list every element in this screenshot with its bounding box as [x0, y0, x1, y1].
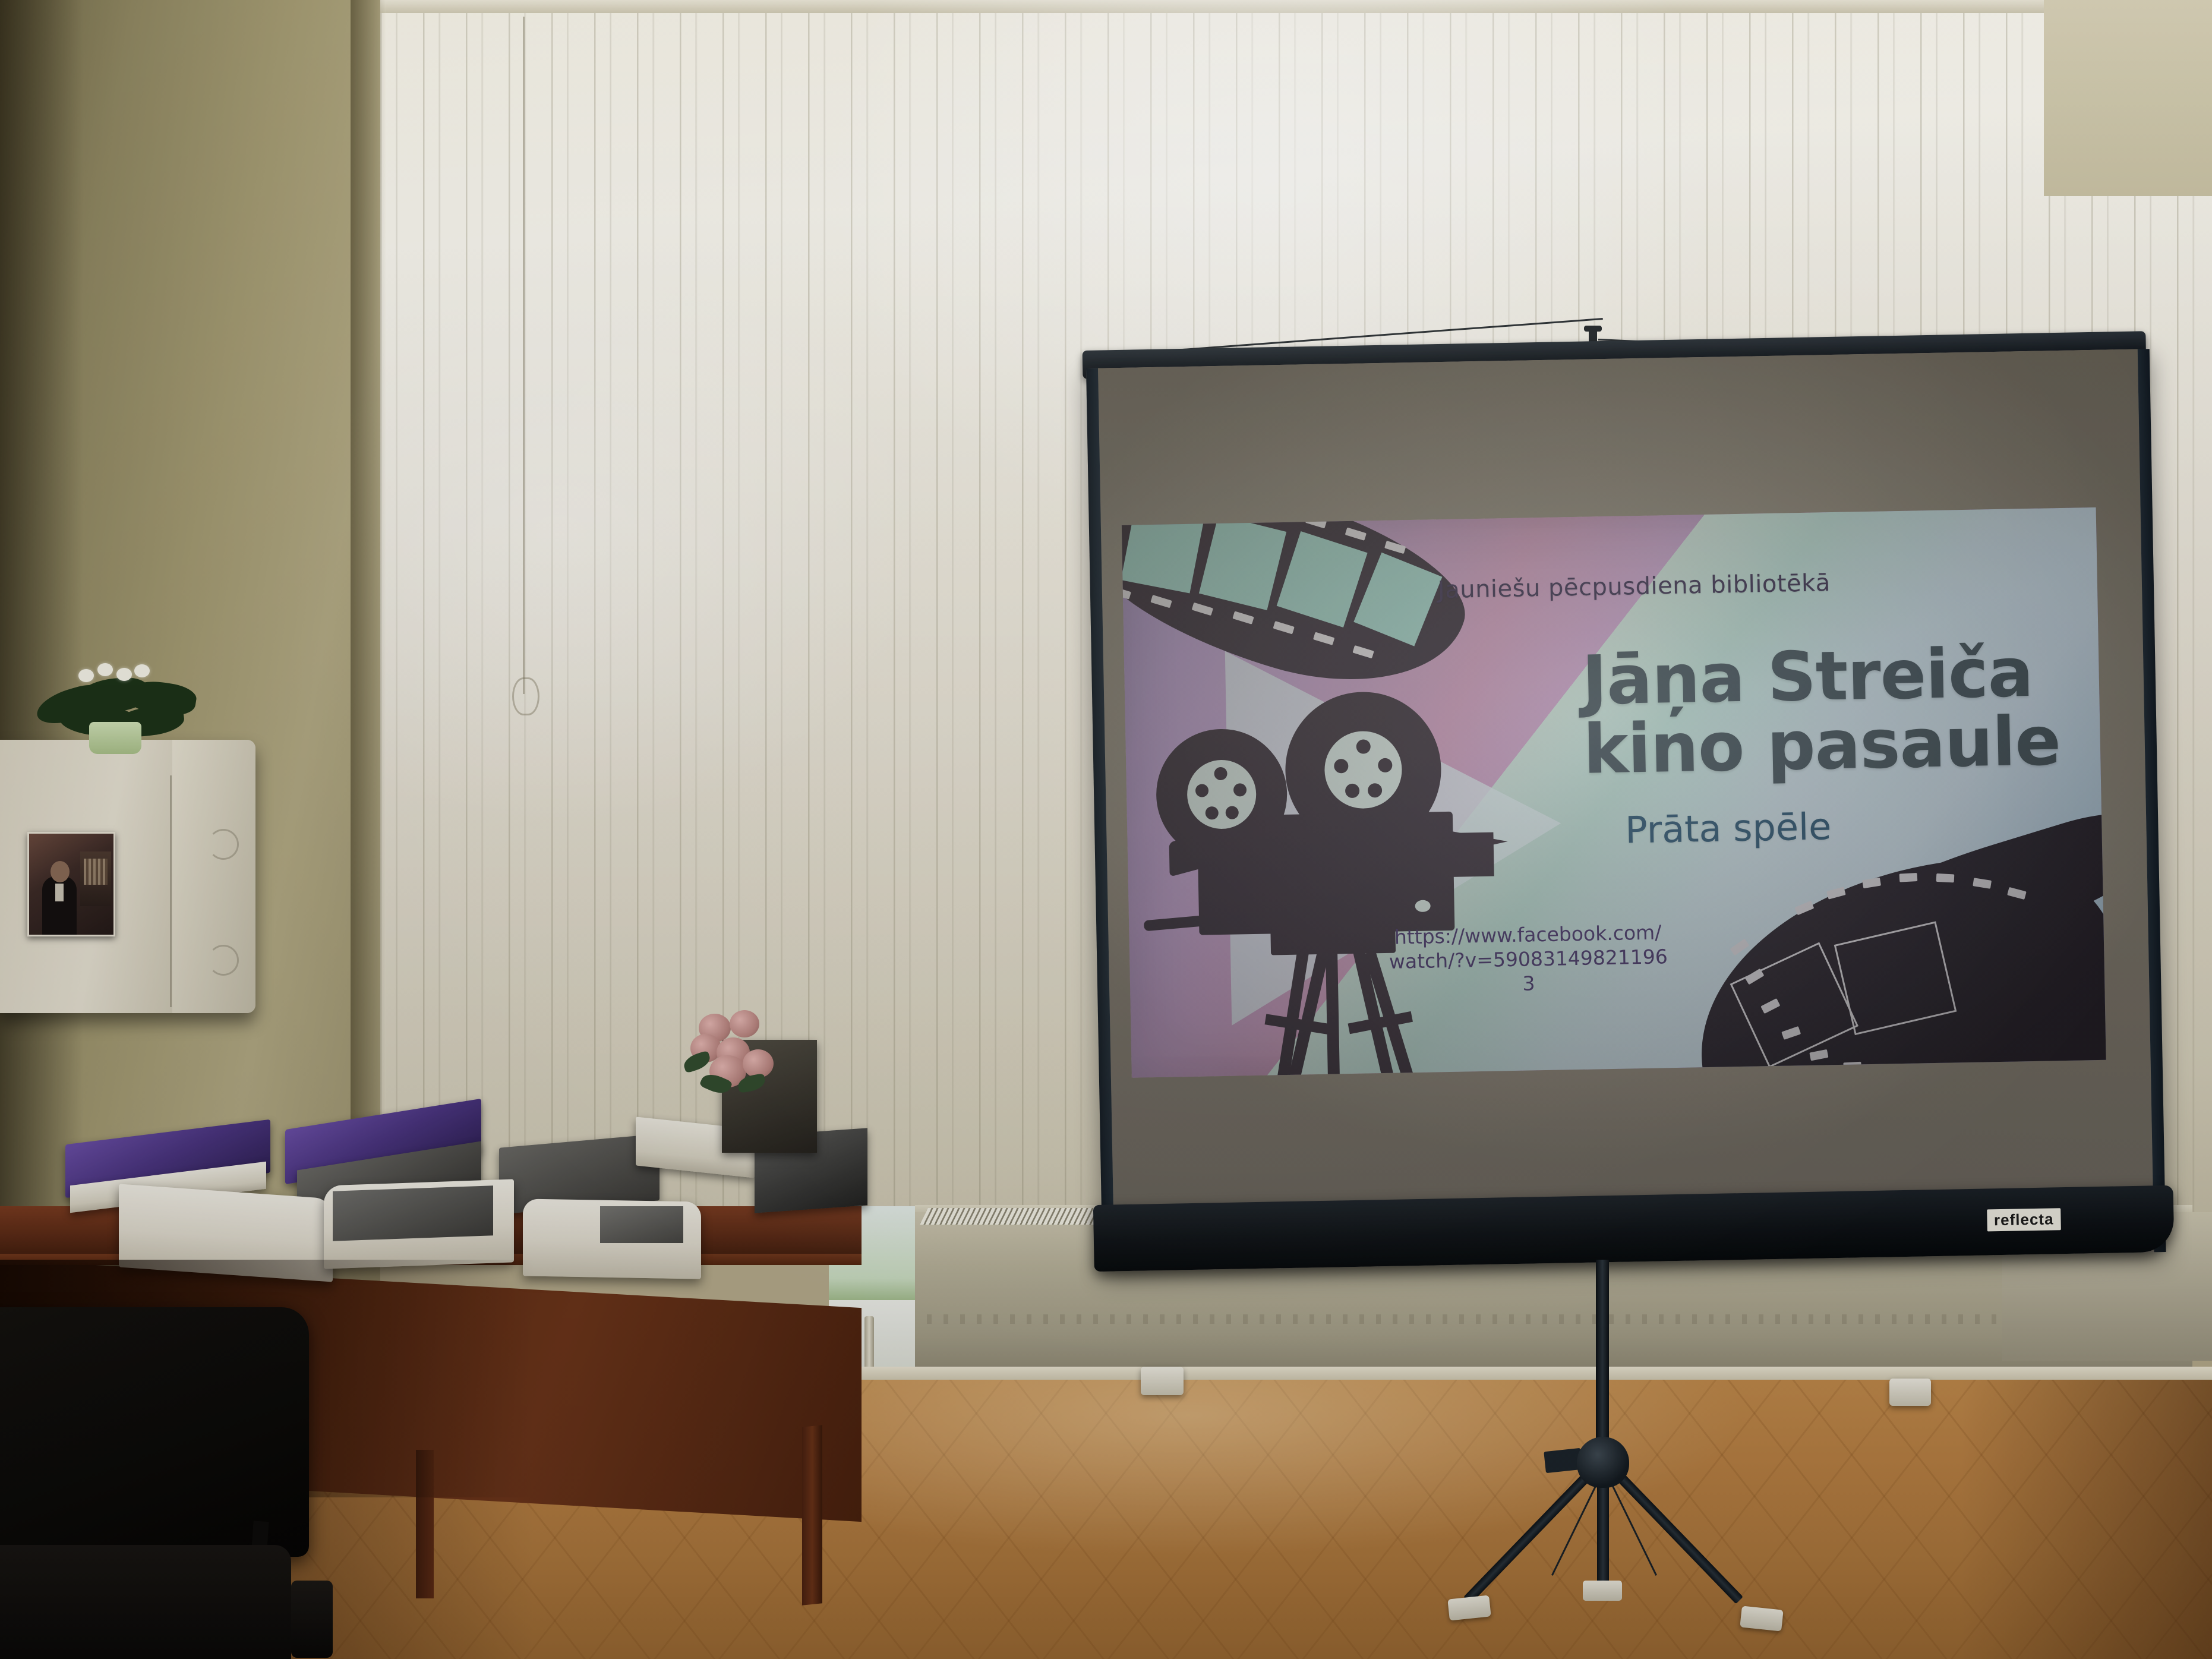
- table-leg-right: [802, 1425, 822, 1606]
- rose-leaf: [681, 1051, 712, 1074]
- reel-hole: [1334, 759, 1348, 773]
- screen-support-foot-left: [1141, 1367, 1184, 1395]
- slide-url-line2: tch/?v=590831498211963: [1417, 945, 1668, 995]
- reel-hole: [1345, 784, 1359, 798]
- plant-pot: [89, 722, 141, 754]
- reel-hole: [1233, 783, 1247, 796]
- left-wall-shadow: [0, 0, 83, 1283]
- wall-corner: [351, 0, 386, 1248]
- reel-hole: [1195, 784, 1208, 797]
- framed-portrait: [27, 832, 115, 936]
- plant-flower: [134, 664, 150, 677]
- right-wall-upper: [2044, 0, 2212, 196]
- reel-hole: [1378, 758, 1392, 772]
- reel-hole: [1214, 767, 1227, 780]
- chair-back[interactable]: [0, 1307, 309, 1557]
- radiator-vent-dots: [927, 1314, 2181, 1324]
- camera-tripod-leg: [1326, 950, 1340, 1077]
- camera-lens-cone: [1442, 828, 1508, 856]
- portrait-shirt: [55, 884, 64, 901]
- filmstrip-bottom-right-icon: [1693, 863, 2106, 1078]
- filmstrip-perforation: [1936, 873, 1955, 883]
- reel-hole: [1206, 806, 1219, 819]
- plant-flower: [78, 669, 94, 682]
- chair-seat[interactable]: [0, 1545, 291, 1659]
- tripod-hub: [1577, 1437, 1629, 1488]
- reel-hole: [1226, 806, 1239, 819]
- reel-hole: [1356, 739, 1371, 753]
- rose-bouquet: [683, 1010, 808, 1123]
- floor-light-reflection: [654, 1380, 2080, 1659]
- film-camera-icon: [1143, 679, 1529, 1054]
- projection-screen: Jauniešu pēcpusdiena bibliotēkā Jāņa Str…: [1086, 349, 2166, 1272]
- portrait-head: [51, 861, 70, 882]
- list-item: [600, 1206, 683, 1243]
- screen-brand-label: reflecta: [1987, 1208, 2061, 1231]
- tripod-foot-left: [1447, 1595, 1491, 1620]
- filmstrip-perforation: [1899, 873, 1918, 882]
- slide-url: https://www.facebook.com/watch/?v=590831…: [1388, 920, 1668, 998]
- reel-hole: [1368, 783, 1382, 797]
- plant-flower: [97, 663, 113, 676]
- tripod-foot-center: [1583, 1581, 1622, 1601]
- screen-support-foot-right: [1889, 1379, 1931, 1406]
- tripod-center-post: [1596, 1260, 1609, 1462]
- list-item: [333, 1185, 493, 1241]
- slide-title-line2: kino pasaule: [1583, 707, 2071, 784]
- chair-arm: [291, 1581, 333, 1658]
- presentation-slide: Jauniešu pēcpusdiena bibliotēkā Jāņa Str…: [1122, 507, 2106, 1078]
- cabinet-knob-bottom[interactable]: [208, 945, 239, 976]
- cabinet-door-seam: [170, 775, 172, 1007]
- blinds-top-rail: [380, 0, 2212, 13]
- tripod-foot-right: [1740, 1606, 1783, 1631]
- slide-title: Jāņa Streiča kino pasaule: [1582, 638, 2071, 785]
- cabinet-knob-top[interactable]: [208, 829, 239, 860]
- filmstrip-perforation: [1730, 939, 1750, 956]
- rose: [730, 1010, 759, 1037]
- floor-shadow-right: [1961, 1380, 2212, 1659]
- slide-kicker: Prāta spēle: [1625, 805, 1832, 851]
- blinds-cord[interactable]: [523, 17, 525, 694]
- portrait-books: [84, 859, 108, 885]
- room-scene: Jauniešu pēcpusdiena bibliotēkā Jāņa Str…: [0, 0, 2212, 1659]
- plant-flower: [116, 668, 132, 681]
- blinds-cord-loop[interactable]: [512, 677, 539, 715]
